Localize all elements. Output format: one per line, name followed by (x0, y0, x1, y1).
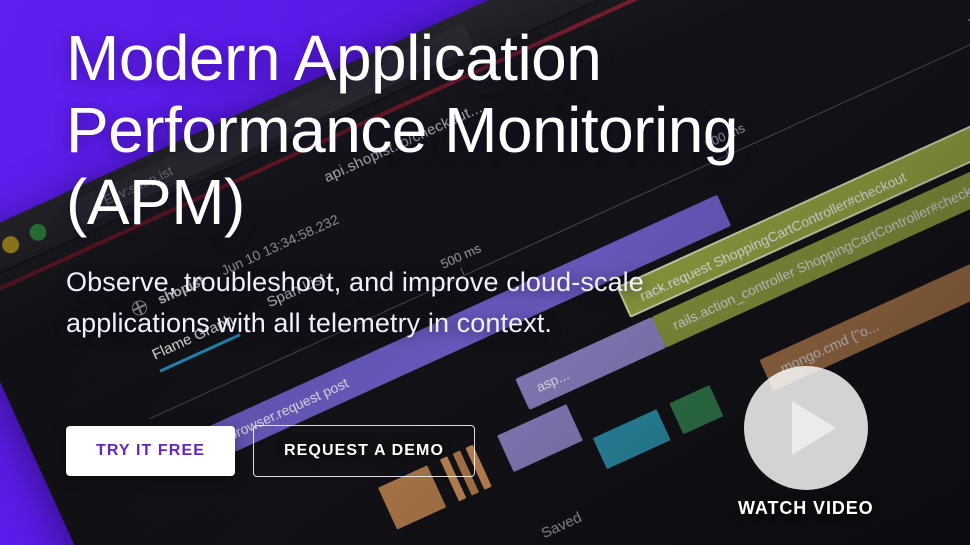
subhead-line-2: applications with all telemetry in conte… (66, 308, 552, 338)
headline-line-2: Performance Monitoring (66, 94, 738, 166)
play-button-circle[interactable] (744, 366, 868, 490)
hero-copy: Modern Application Performance Monitorin… (66, 22, 946, 344)
watch-video-label: WATCH VIDEO (738, 498, 874, 519)
subhead-line-1: Observe, troubleshoot, and improve cloud… (66, 267, 644, 297)
play-triangle-icon (792, 401, 836, 455)
headline-line-1: Modern Application (66, 22, 601, 94)
hero-subtitle: Observe, troubleshoot, and improve cloud… (66, 262, 946, 344)
page-title: Modern Application Performance Monitorin… (66, 22, 946, 238)
watch-video-button[interactable]: WATCH VIDEO (738, 366, 874, 519)
request-a-demo-button[interactable]: REQUEST A DEMO (253, 425, 475, 477)
headline-line-3: (APM) (66, 166, 245, 238)
hero-section: Env:shop.ist 500 INT... api.shopist.io/c… (0, 0, 970, 545)
try-it-free-button[interactable]: TRY IT FREE (66, 426, 235, 476)
cta-row: TRY IT FREE REQUEST A DEMO (66, 425, 475, 477)
